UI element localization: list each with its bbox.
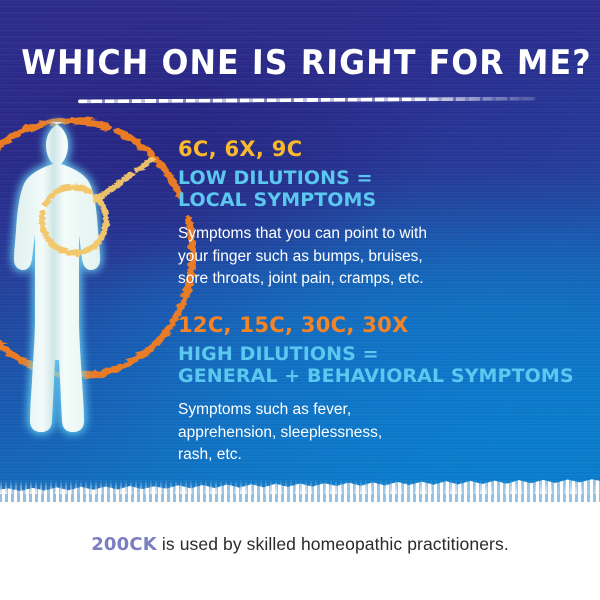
illustration-human-figure (0, 108, 196, 508)
dilution-code-low: 6C, 6X, 9C (178, 138, 427, 160)
footer-note: 200CK is used by skilled homeopathic pra… (0, 534, 600, 555)
dilution-subhead-high: HIGH DILUTIONS = GENERAL + BEHAVIORAL SY… (178, 343, 574, 387)
dilution-subhead-low: LOW DILUTIONS = LOCAL SYMPTOMS (178, 167, 427, 211)
footer-note-text: is used by skilled homeopathic practitio… (157, 534, 509, 554)
human-body-silhouette (14, 122, 100, 432)
dilution-body-high: Symptoms such as fever, apprehension, sl… (178, 399, 574, 467)
dilution-section-high: 12C, 15C, 30C, 30X HIGH DILUTIONS = GENE… (178, 314, 574, 467)
page-title: WHICH ONE IS RIGHT FOR ME? (21, 46, 579, 80)
footer-potency-code: 200CK (91, 534, 157, 555)
dilution-code-high: 12C, 15C, 30C, 30X (178, 314, 574, 336)
poster-root: WHICH ONE IS RIGHT FOR ME? (0, 0, 600, 600)
dilution-body-low: Symptoms that you can point to with your… (178, 223, 427, 291)
dilution-section-low: 6C, 6X, 9C LOW DILUTIONS = LOCAL SYMPTOM… (178, 138, 427, 291)
title-brush-underline (78, 97, 536, 104)
